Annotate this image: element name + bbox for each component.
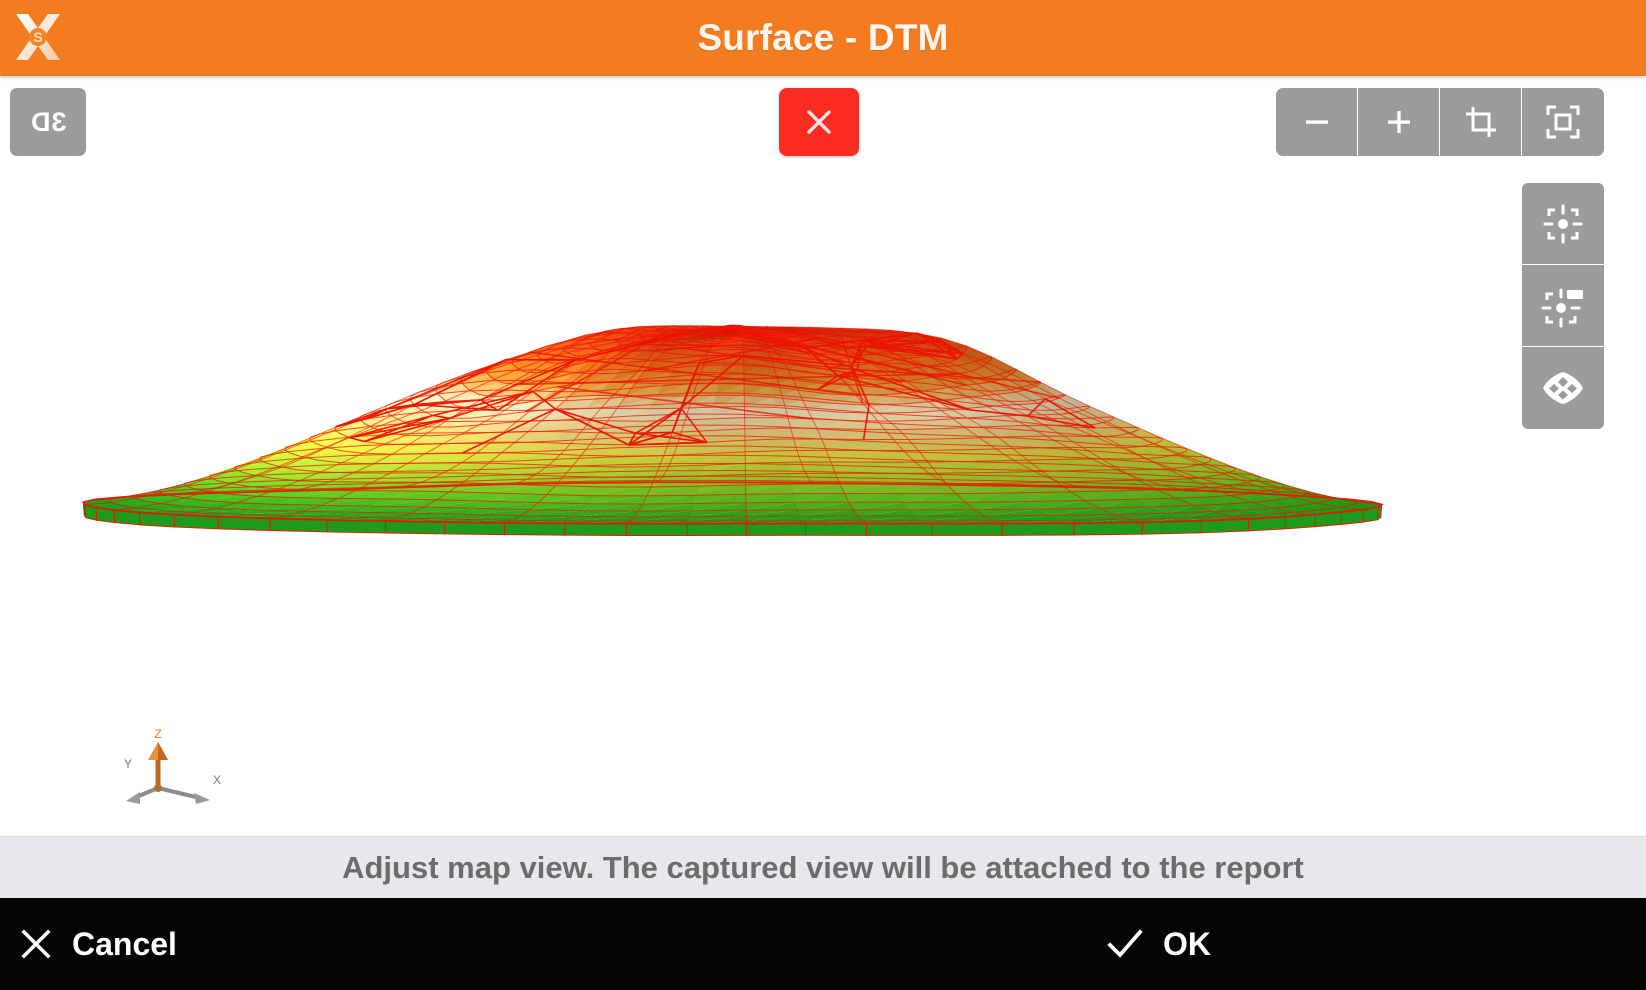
app-header: S Surface - DTM <box>0 0 1646 76</box>
target-with-label-button[interactable] <box>1522 265 1604 347</box>
cancel-label: Cancel <box>72 926 177 963</box>
footer-action-bar: Cancel OK <box>0 898 1646 990</box>
view-mode-3d-label: 3D <box>30 107 67 138</box>
center-target-icon <box>1541 202 1585 246</box>
center-target-button[interactable] <box>1522 183 1604 265</box>
view-tools-toolbar <box>1522 183 1604 429</box>
x-s-logo-icon: S <box>8 7 68 67</box>
zoom-toolbar <box>1276 88 1604 156</box>
mesh-diamond-icon <box>1539 364 1587 412</box>
ok-button[interactable]: OK <box>1105 926 1211 963</box>
dtm-surface-mesh[interactable] <box>0 76 1646 836</box>
cancel-button[interactable]: Cancel <box>18 926 177 963</box>
ok-label: OK <box>1163 926 1211 963</box>
view-mode-3d-button[interactable]: 3D <box>10 88 86 156</box>
svg-text:S: S <box>33 29 42 45</box>
map-viewport[interactable]: Z Y X <box>0 76 1646 836</box>
axis-y-label: Y <box>124 757 132 771</box>
surface-dtm-screen: S Surface - DTM Z Y X <box>0 0 1646 990</box>
page-title: Surface - DTM <box>697 17 948 59</box>
zoom-in-button[interactable] <box>1358 88 1440 156</box>
status-bar: Adjust map view. The captured view will … <box>0 836 1646 898</box>
axis-orientation-gizmo: Z Y X <box>118 726 238 816</box>
crop-icon <box>1462 103 1500 141</box>
axis-x-label: X <box>213 773 221 787</box>
close-x-icon <box>18 926 54 962</box>
mesh-surface-button[interactable] <box>1522 347 1604 429</box>
plus-icon <box>1381 104 1417 140</box>
minus-icon <box>1299 104 1335 140</box>
target-with-label-icon <box>1541 284 1585 328</box>
close-x-icon <box>802 105 836 139</box>
status-message: Adjust map view. The captured view will … <box>342 850 1304 886</box>
fit-to-screen-icon <box>1544 103 1582 141</box>
fit-to-screen-button[interactable] <box>1522 88 1604 156</box>
check-icon <box>1105 926 1145 962</box>
close-button[interactable] <box>779 88 859 156</box>
crop-button[interactable] <box>1440 88 1522 156</box>
zoom-out-button[interactable] <box>1276 88 1358 156</box>
axis-z-label: Z <box>154 727 161 741</box>
